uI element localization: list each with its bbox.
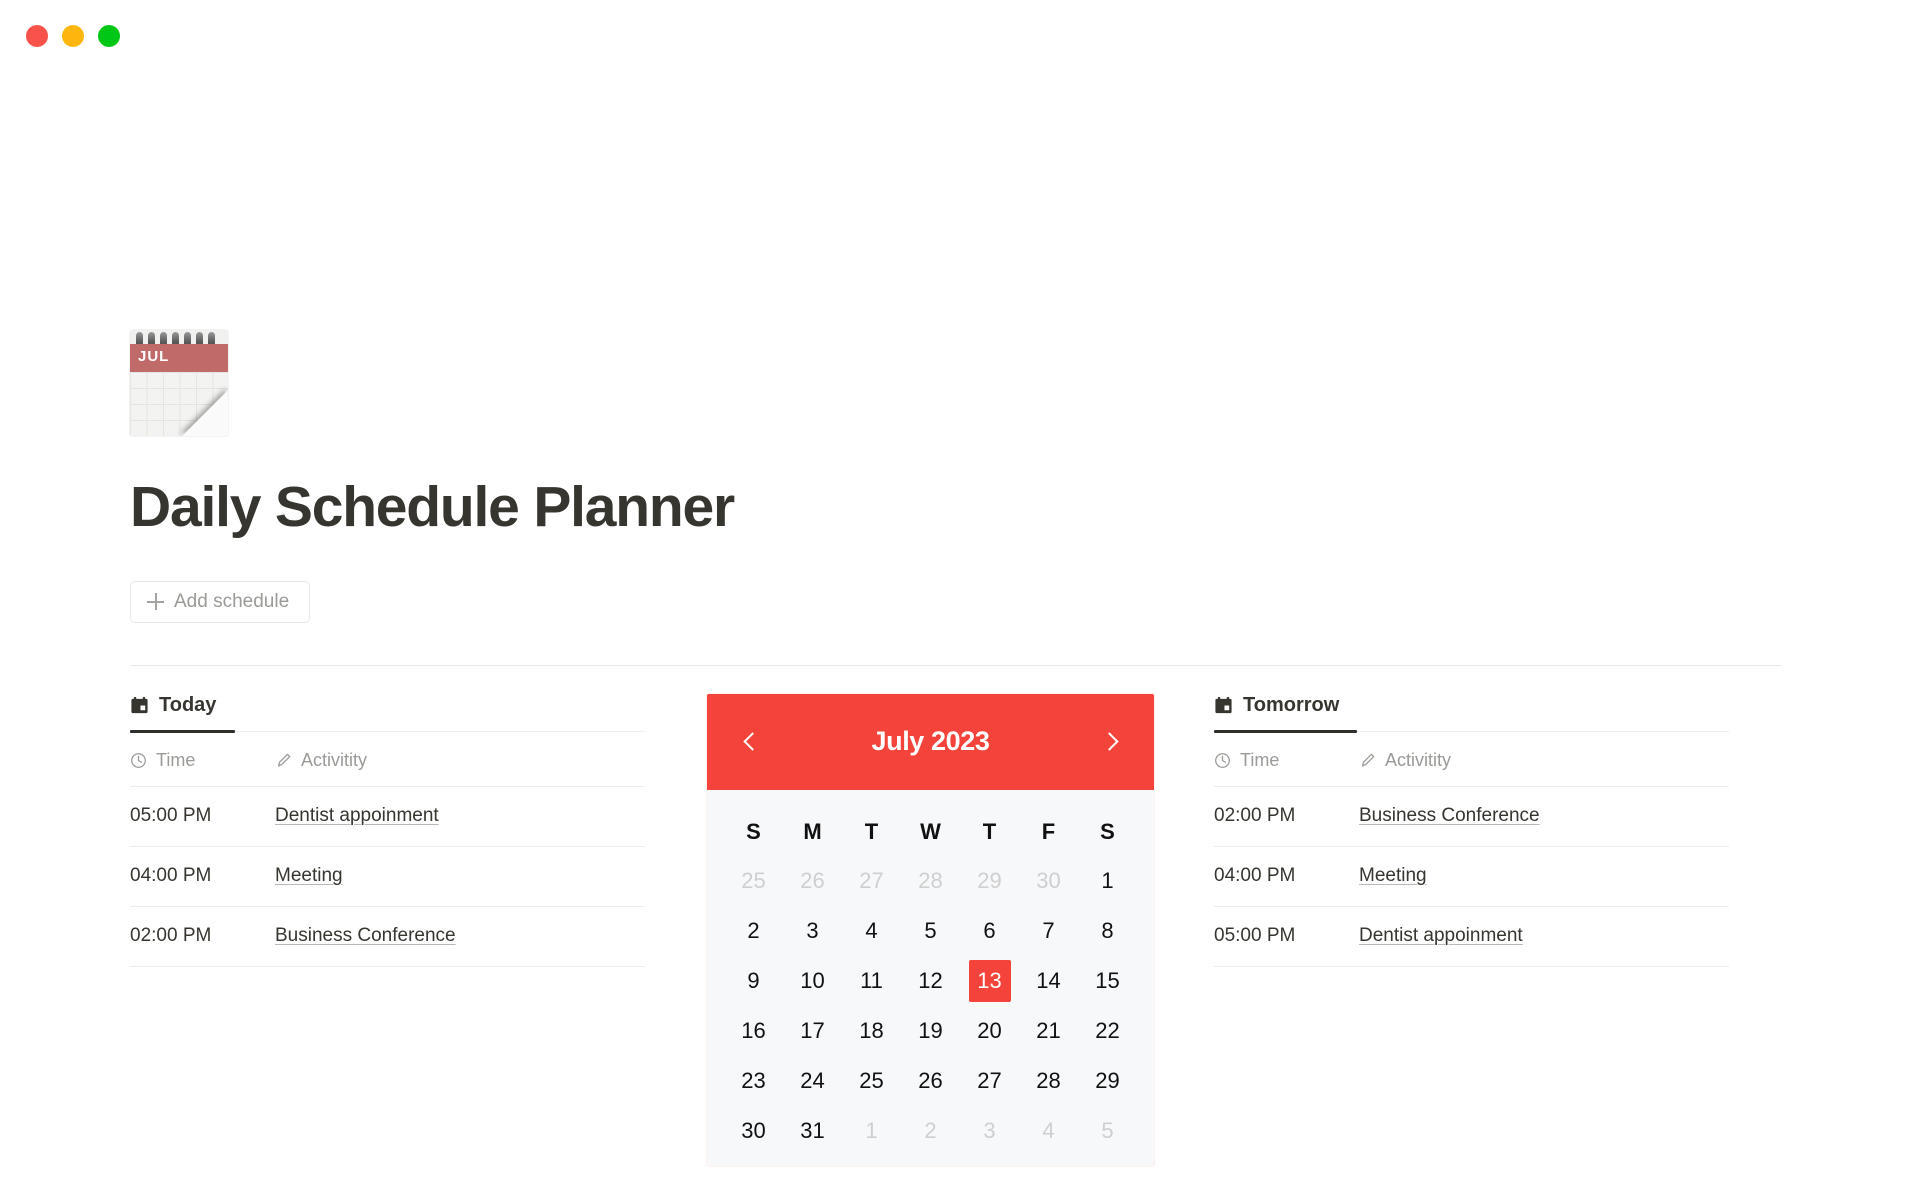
today-col-time[interactable]: Time (130, 733, 275, 787)
tomorrow-col-time-label: Time (1240, 750, 1279, 771)
calendar-day[interactable]: 2 (910, 1110, 952, 1152)
add-schedule-label: Add schedule (174, 591, 289, 613)
activity-link[interactable]: Business Conference (275, 925, 456, 946)
calendar-day-selected[interactable]: 13 (969, 960, 1011, 1002)
calendar-cell: 22 (1078, 1006, 1137, 1056)
today-table-body: 05:00 PM Dentist appoinment 04:00 PM Mee… (130, 786, 645, 966)
calendar-day[interactable]: 30 (1028, 860, 1070, 902)
next-month-button[interactable] (1096, 727, 1126, 757)
tomorrow-table-body: 02:00 PM Business Conference 04:00 PM Me… (1214, 786, 1729, 966)
calendar-weekday-row: S M T W T F S (724, 808, 1137, 856)
document-content: JUL Daily Schedule Planner Add schedule (130, 330, 1782, 1166)
row-time: 02:00 PM (1214, 786, 1359, 846)
calendar-cell: 9 (724, 956, 783, 1006)
row-activity: Meeting (275, 846, 645, 906)
calendar-day[interactable]: 14 (1028, 960, 1070, 1002)
row-activity: Business Conference (1359, 786, 1729, 846)
calendar-day[interactable]: 1 (851, 1110, 893, 1152)
activity-link[interactable]: Dentist appoinment (275, 805, 439, 826)
calendar-day[interactable]: 29 (969, 860, 1011, 902)
page-icon[interactable]: JUL (130, 330, 230, 442)
calendar-week-row: 23242526272829 (724, 1056, 1137, 1106)
tomorrow-col-time[interactable]: Time (1214, 733, 1359, 787)
calendar-day[interactable]: 27 (851, 860, 893, 902)
calendar-week-row: 303112345 (724, 1106, 1137, 1156)
calendar-cell: 26 (901, 1056, 960, 1106)
row-time: 05:00 PM (130, 786, 275, 846)
tomorrow-col-activity-label: Activitity (1385, 750, 1451, 771)
calendar-day[interactable]: 26 (792, 860, 834, 902)
calendar-day[interactable]: 6 (969, 910, 1011, 952)
calendar-day[interactable]: 16 (733, 1010, 775, 1052)
calendar-day[interactable]: 29 (1087, 1060, 1129, 1102)
calendar-cell: 6 (960, 906, 1019, 956)
weekday-label: W (901, 808, 960, 856)
chevron-right-icon (1100, 732, 1118, 750)
table-row[interactable]: 04:00 PM Meeting (130, 846, 645, 906)
calendar-day[interactable]: 2 (733, 910, 775, 952)
calendar-cell: 20 (960, 1006, 1019, 1056)
calendar-day[interactable]: 27 (969, 1060, 1011, 1102)
calendar-cell: 4 (1019, 1106, 1078, 1156)
tomorrow-col-activity[interactable]: Activitity (1359, 733, 1729, 787)
add-schedule-button[interactable]: Add schedule (130, 581, 310, 623)
tab-tomorrow[interactable]: Tomorrow (1214, 694, 1339, 730)
calendar-icon (130, 696, 149, 715)
calendar-day[interactable]: 18 (851, 1010, 893, 1052)
calendar-day[interactable]: 28 (1028, 1060, 1070, 1102)
month-calendar: July 2023 S M T W T F S (707, 694, 1154, 1166)
calendar-cell: 26 (783, 856, 842, 906)
row-time: 04:00 PM (1214, 846, 1359, 906)
calendar-day[interactable]: 26 (910, 1060, 952, 1102)
today-table-header-row: Time (130, 733, 645, 787)
tomorrow-column: Tomorrow (1214, 694, 1729, 967)
calendar-day[interactable]: 19 (910, 1010, 952, 1052)
calendar-day[interactable]: 9 (733, 960, 775, 1002)
calendar-day[interactable]: 12 (910, 960, 952, 1002)
calendar-cell: 31 (783, 1106, 842, 1156)
calendar-cell: 21 (1019, 1006, 1078, 1056)
activity-link[interactable]: Dentist appoinment (1359, 925, 1523, 946)
calendar-day[interactable]: 3 (792, 910, 834, 952)
close-window-button[interactable] (26, 25, 48, 47)
calendar-cell: 4 (842, 906, 901, 956)
calendar-week-row: 2526272829301 (724, 856, 1137, 906)
content-divider (130, 665, 1782, 666)
calendar-day[interactable]: 23 (733, 1060, 775, 1102)
calendar-day[interactable]: 24 (792, 1060, 834, 1102)
calendar-title: July 2023 (765, 726, 1096, 757)
activity-link[interactable]: Meeting (275, 865, 343, 886)
schedule-columns: Today (130, 694, 1782, 1166)
calendar-cell: 18 (842, 1006, 901, 1056)
calendar-cell: 1 (842, 1106, 901, 1156)
page-icon-month: JUL (138, 349, 169, 364)
pencil-icon (275, 752, 292, 769)
row-time: 02:00 PM (130, 906, 275, 966)
calendar-day[interactable]: 10 (792, 960, 834, 1002)
weekday-label: S (1078, 808, 1137, 856)
table-row[interactable]: 05:00 PM Dentist appoinment (130, 786, 645, 846)
calendar-day[interactable]: 11 (851, 960, 893, 1002)
weekday-label: T (842, 808, 901, 856)
row-activity: Dentist appoinment (275, 786, 645, 846)
clock-icon (1214, 752, 1231, 769)
weekday-label: M (783, 808, 842, 856)
calendar-day[interactable]: 21 (1028, 1010, 1070, 1052)
calendar-cell: 19 (901, 1006, 960, 1056)
row-time: 04:00 PM (130, 846, 275, 906)
today-schedule-table: Time (130, 733, 645, 967)
calendar-day[interactable]: 25 (733, 860, 775, 902)
calendar-cell: 7 (1019, 906, 1078, 956)
today-column: Today (130, 694, 645, 967)
calendar-day[interactable]: 5 (910, 910, 952, 952)
calendar-cell: 29 (960, 856, 1019, 906)
calendar-week-row: 2345678 (724, 906, 1137, 956)
pencil-icon (1359, 752, 1376, 769)
calendar-day[interactable]: 25 (851, 1060, 893, 1102)
tab-tomorrow-label: Tomorrow (1243, 694, 1339, 717)
calendar-cell: 1 (1078, 856, 1137, 906)
today-tab-indicator (130, 730, 645, 733)
calendar-day[interactable]: 20 (969, 1010, 1011, 1052)
row-activity: Meeting (1359, 846, 1729, 906)
calendar-day[interactable]: 30 (733, 1110, 775, 1152)
calendar-cell: 3 (960, 1106, 1019, 1156)
calendar-cell: 5 (901, 906, 960, 956)
calendar-body: S M T W T F S 25262728293012345678910111… (707, 790, 1154, 1166)
window-titlebar (0, 0, 1920, 72)
spiral-calendar-icon: JUL (130, 330, 228, 436)
app-window: JUL Daily Schedule Planner Add schedule (0, 0, 1920, 1200)
maximize-window-button[interactable] (98, 25, 120, 47)
calendar-column: July 2023 S M T W T F S (707, 694, 1154, 1166)
calendar-day[interactable]: 8 (1087, 910, 1129, 952)
calendar-day[interactable]: 31 (792, 1110, 834, 1152)
calendar-cell: 15 (1078, 956, 1137, 1006)
calendar-cell: 12 (901, 956, 960, 1006)
calendar-day[interactable]: 5 (1087, 1110, 1129, 1152)
calendar-day[interactable]: 28 (910, 860, 952, 902)
calendar-cell: 3 (783, 906, 842, 956)
plus-icon (147, 593, 164, 610)
calendar-day[interactable]: 4 (1028, 1110, 1070, 1152)
calendar-day[interactable]: 17 (792, 1010, 834, 1052)
row-time: 05:00 PM (1214, 906, 1359, 966)
weekday-label: S (724, 808, 783, 856)
calendar-cell: 10 (783, 956, 842, 1006)
tab-today[interactable]: Today (130, 694, 216, 730)
activity-link[interactable]: Business Conference (1359, 805, 1540, 826)
tomorrow-tab-indicator (1214, 730, 1729, 733)
calendar-cell: 11 (842, 956, 901, 1006)
calendar-cell: 14 (1019, 956, 1078, 1006)
calendar-day[interactable]: 1 (1087, 860, 1129, 902)
tab-today-label: Today (159, 694, 216, 717)
calendar-week-row: 9101112131415 (724, 956, 1137, 1006)
table-row[interactable]: 04:00 PM Meeting (1214, 846, 1729, 906)
calendar-icon (1214, 696, 1233, 715)
calendar-cell: 2 (901, 1106, 960, 1156)
chevron-left-icon (743, 732, 761, 750)
calendar-cell: 16 (724, 1006, 783, 1056)
weekday-label: T (960, 808, 1019, 856)
table-row[interactable]: 02:00 PM Business Conference (130, 906, 645, 966)
calendar-day[interactable]: 3 (969, 1110, 1011, 1152)
clock-icon (130, 752, 147, 769)
calendar-day[interactable]: 15 (1087, 960, 1129, 1002)
prev-month-button[interactable] (735, 727, 765, 757)
row-activity: Business Conference (275, 906, 645, 966)
row-activity: Dentist appoinment (1359, 906, 1729, 966)
weekday-label: F (1019, 808, 1078, 856)
calendar-cell: 23 (724, 1056, 783, 1106)
calendar-weeks: 2526272829301234567891011121314151617181… (724, 856, 1137, 1156)
today-col-activity[interactable]: Activitity (275, 733, 645, 787)
calendar-day[interactable]: 7 (1028, 910, 1070, 952)
calendar-day[interactable]: 22 (1087, 1010, 1129, 1052)
table-row[interactable]: 02:00 PM Business Conference (1214, 786, 1729, 846)
calendar-cell: 30 (1019, 856, 1078, 906)
calendar-cell: 2 (724, 906, 783, 956)
calendar-cell: 27 (960, 1056, 1019, 1106)
table-row[interactable]: 05:00 PM Dentist appoinment (1214, 906, 1729, 966)
tomorrow-schedule-table: Time (1214, 733, 1729, 967)
calendar-cell: 28 (1019, 1056, 1078, 1106)
calendar-cell: 17 (783, 1006, 842, 1056)
calendar-cell: 5 (1078, 1106, 1137, 1156)
activity-link[interactable]: Meeting (1359, 865, 1427, 886)
minimize-window-button[interactable] (62, 25, 84, 47)
calendar-cell: 8 (1078, 906, 1137, 956)
calendar-cell: 24 (783, 1056, 842, 1106)
calendar-week-row: 16171819202122 (724, 1006, 1137, 1056)
calendar-cell: 30 (724, 1106, 783, 1156)
calendar-cell: 25 (724, 856, 783, 906)
today-col-activity-label: Activitity (301, 750, 367, 771)
calendar-header: July 2023 (707, 694, 1154, 790)
today-col-time-label: Time (156, 750, 195, 771)
window-controls (26, 25, 120, 47)
calendar-cell: 28 (901, 856, 960, 906)
calendar-day[interactable]: 4 (851, 910, 893, 952)
calendar-cell: 29 (1078, 1056, 1137, 1106)
calendar-cell: 27 (842, 856, 901, 906)
tomorrow-table-header-row: Time (1214, 733, 1729, 787)
calendar-cell: 25 (842, 1056, 901, 1106)
page-title: Daily Schedule Planner (130, 476, 1782, 539)
calendar-cell: 13 (960, 956, 1019, 1006)
